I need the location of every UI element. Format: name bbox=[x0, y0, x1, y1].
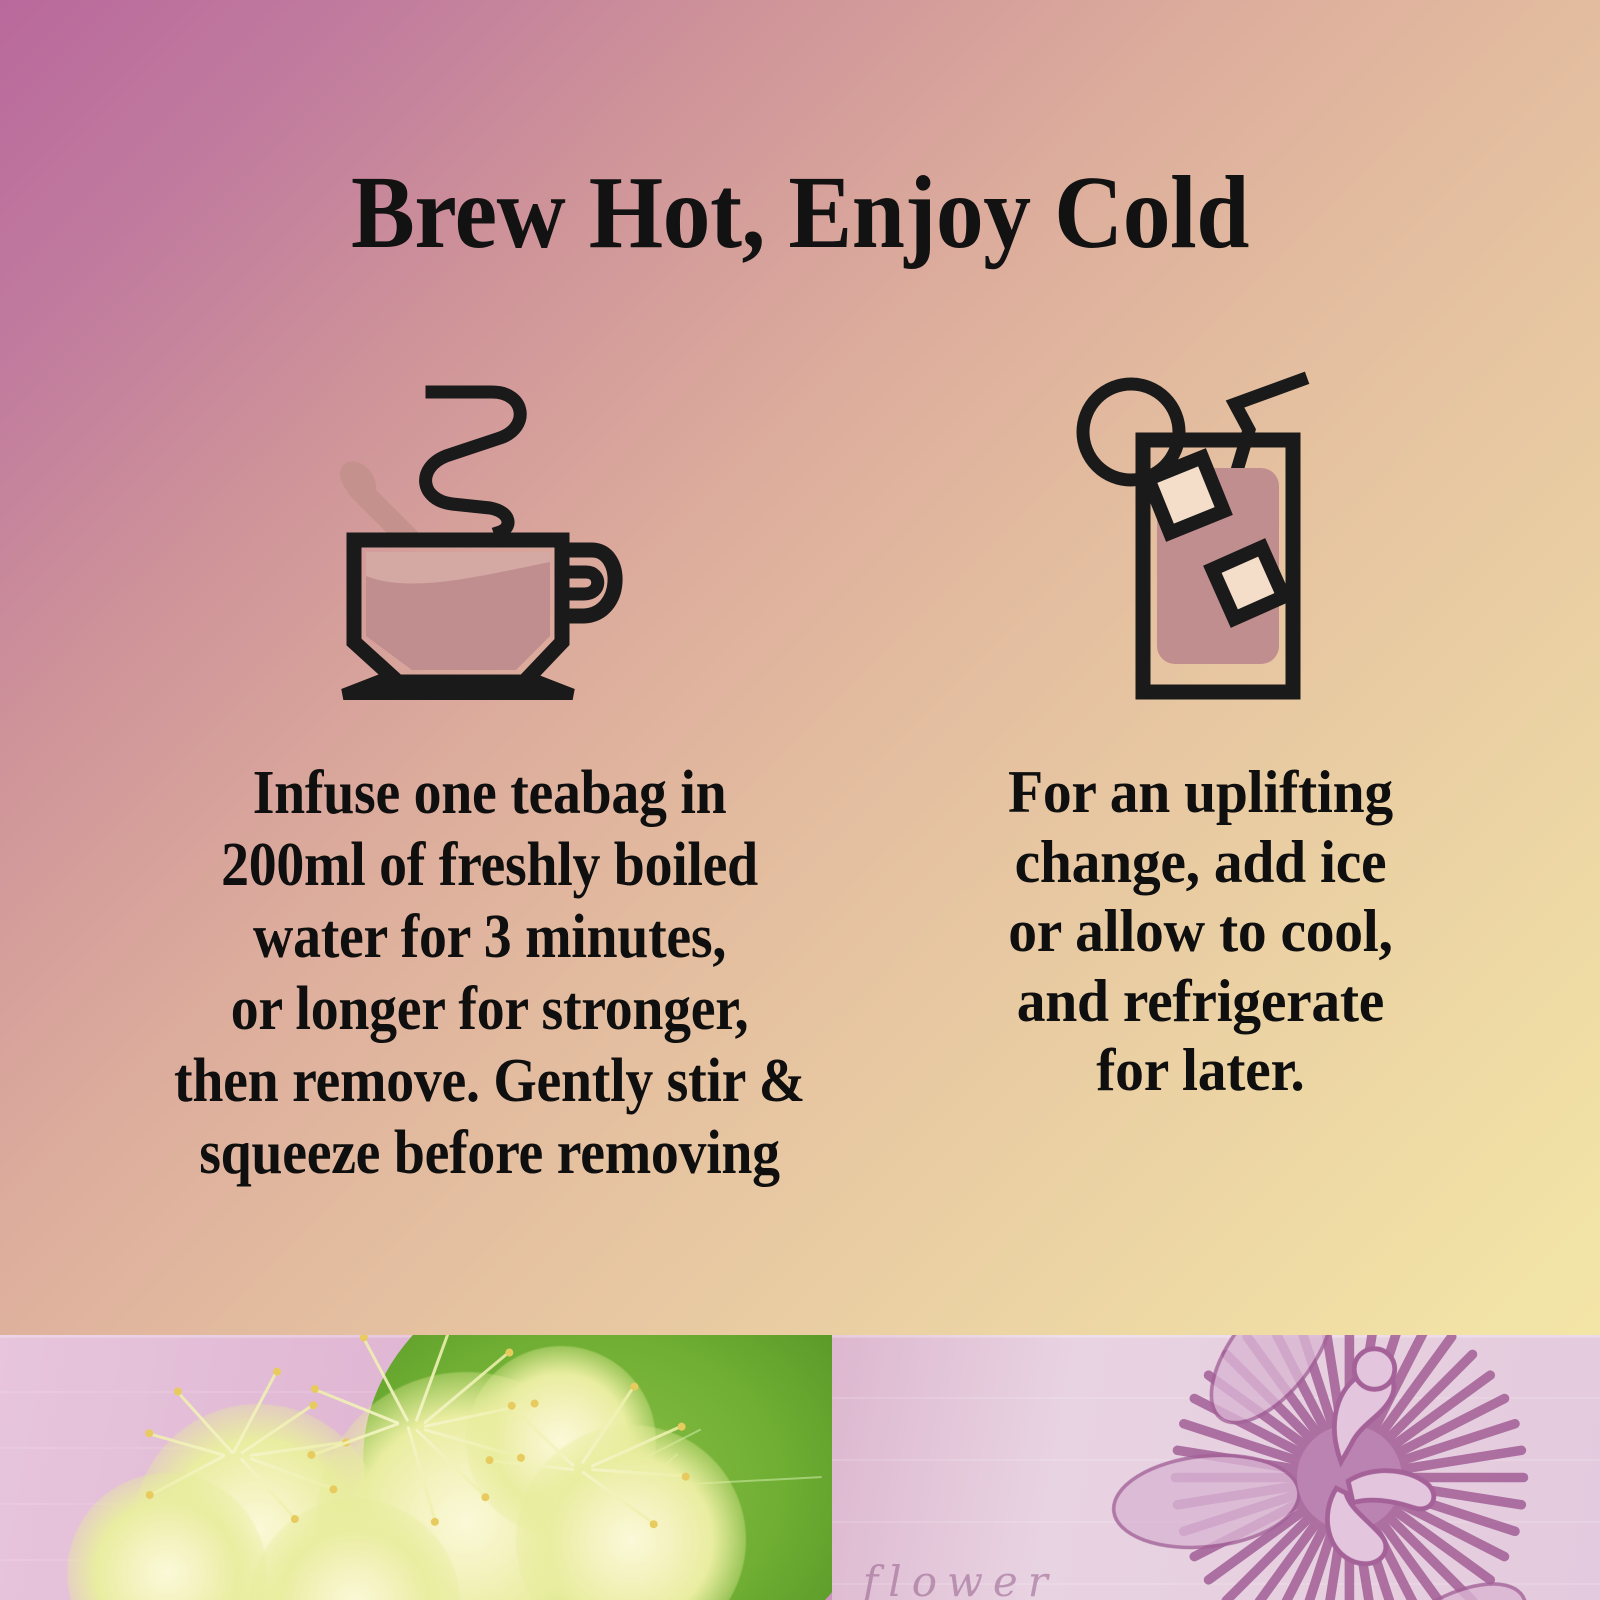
ice-cube-1 bbox=[1148, 457, 1224, 533]
instruction-columns: Infuse one teabag in 200ml of freshly bo… bbox=[0, 370, 1600, 1189]
ice-cube-2 bbox=[1212, 547, 1283, 618]
steam-swirl bbox=[426, 392, 521, 532]
brew-hot-caption: Infuse one teabag in 200ml of freshly bo… bbox=[175, 758, 806, 1189]
hot-teacup-icon bbox=[340, 370, 640, 700]
linden-blossom-photo bbox=[0, 1335, 832, 1600]
column-brew-hot: Infuse one teabag in 200ml of freshly bo… bbox=[90, 370, 890, 1189]
passionflower-illustration: flower bbox=[832, 1335, 1600, 1600]
iced-tea-glass-icon bbox=[1065, 370, 1335, 700]
poster-canvas: Brew Hot, Enjoy Cold bbox=[0, 0, 1600, 1600]
script-text: flower bbox=[863, 1557, 1058, 1600]
enjoy-cold-caption: For an uplifting change, add ice or allo… bbox=[1008, 758, 1393, 1106]
page-title: Brew Hot, Enjoy Cold bbox=[64, 158, 1536, 267]
column-enjoy-cold: For an uplifting change, add ice or allo… bbox=[890, 370, 1510, 1106]
cup-shape bbox=[344, 540, 615, 696]
photo-band: flower bbox=[0, 1335, 1600, 1600]
